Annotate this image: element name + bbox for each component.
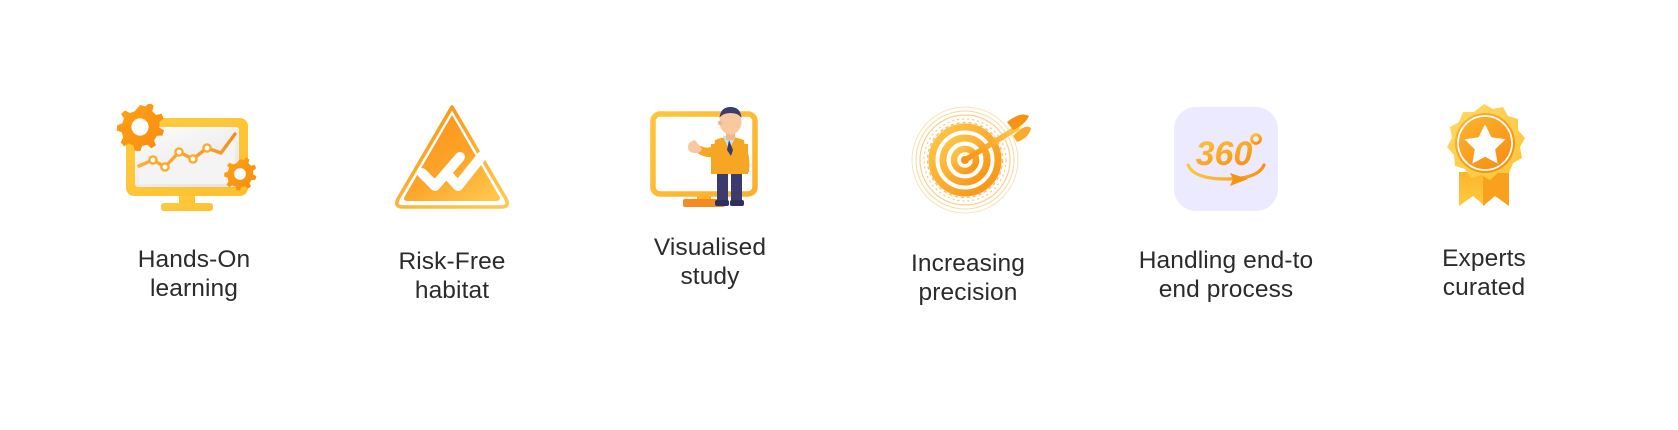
feature-label: Experts curated xyxy=(1442,244,1526,302)
feature-item-hands-on-learning[interactable]: Hands-On learning xyxy=(96,100,292,303)
presenter-whiteboard-icon xyxy=(647,98,773,218)
monitor-chart-gears-icon xyxy=(109,100,279,220)
award-rosette-star-icon xyxy=(1429,96,1539,216)
feature-item-handling-end-to-end-process[interactable]: 360 Handling end-to end process xyxy=(1128,99,1324,304)
feature-item-experts-curated[interactable]: Experts curated xyxy=(1386,96,1582,302)
360-degree-icon: 360 xyxy=(1174,99,1278,219)
svg-text:360: 360 xyxy=(1196,135,1253,173)
feature-item-increasing-precision[interactable]: Increasing precision xyxy=(870,100,1066,307)
feature-label: Risk-Free habitat xyxy=(398,247,505,305)
feature-item-risk-free-habitat[interactable]: Risk-Free habitat xyxy=(354,97,550,305)
triangle-double-check-icon xyxy=(390,97,514,217)
feature-label: Hands-On learning xyxy=(138,245,250,303)
target-dart-icon xyxy=(903,100,1033,220)
feature-item-visualised-study[interactable]: Visualised study xyxy=(612,98,808,291)
features-strip: Hands-On learning xyxy=(0,0,1678,430)
feature-label: Increasing precision xyxy=(911,249,1025,307)
feature-label: Visualised study xyxy=(654,233,766,291)
feature-label: Handling end-to end process xyxy=(1139,246,1313,304)
